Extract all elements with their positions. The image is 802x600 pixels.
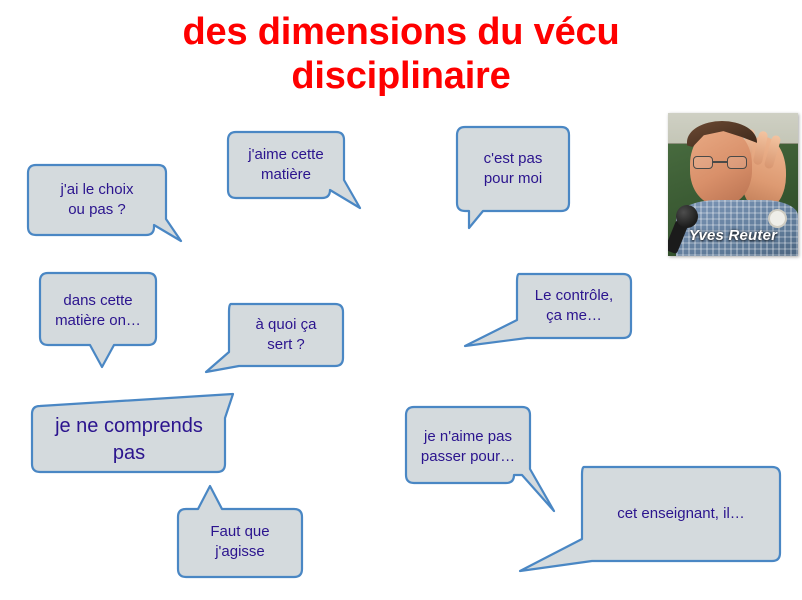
bubble-text: je ne comprends pas	[34, 408, 224, 472]
speech-bubble-je-ne-comprends-pas[interactable]: je ne comprends pas	[30, 392, 245, 482]
bubble-text: je n'aime pas passer pour…	[406, 411, 530, 483]
bubble-text: c'est pas pour moi	[457, 127, 569, 211]
photo-glasses	[693, 156, 747, 169]
photo-glasses-lens-left	[693, 156, 713, 169]
bubble-text: Le contrôle, ça me…	[517, 274, 631, 338]
photo-glasses-lens-right	[727, 156, 747, 169]
slide-canvas: des dimensions du vécu disciplinaire Yve…	[0, 0, 802, 600]
photo-glasses-bridge	[713, 161, 727, 163]
portrait-photo-yves-reuter: Yves Reuter	[668, 113, 798, 256]
speech-bubble-a-quoi-ca-sert[interactable]: à quoi ça sert ?	[203, 302, 348, 377]
speech-bubble-dans-cette-matiere[interactable]: dans cette matière on…	[38, 271, 168, 371]
speech-bubble-faut-que-jagisse[interactable]: Faut que j'agisse	[176, 483, 316, 583]
photo-wristwatch	[768, 209, 787, 228]
bubble-text: à quoi ça sert ?	[229, 304, 343, 366]
speech-bubble-le-controle[interactable]: Le contrôle, ça me…	[461, 272, 636, 352]
speech-bubble-jaime-cette-matiere[interactable]: j'aime cette matière	[226, 130, 366, 220]
portrait-caption: Yves Reuter	[668, 227, 798, 244]
bubble-text: cet enseignant, il…	[582, 467, 780, 561]
page-title: des dimensions du vécu disciplinaire	[0, 10, 802, 98]
bubble-text: Faut que j'agisse	[178, 511, 302, 573]
speech-bubble-cest-pas-pour-moi[interactable]: c'est pas pour moi	[455, 125, 585, 230]
bubble-text: j'ai le choix ou pas ?	[28, 165, 166, 235]
speech-bubble-jai-le-choix[interactable]: j'ai le choix ou pas ?	[26, 163, 186, 253]
photo-microphone	[676, 205, 698, 228]
bubble-text: j'aime cette matière	[228, 132, 344, 198]
bubble-text: dans cette matière on…	[40, 277, 156, 345]
speech-bubble-cet-enseignant[interactable]: cet enseignant, il…	[516, 463, 788, 575]
